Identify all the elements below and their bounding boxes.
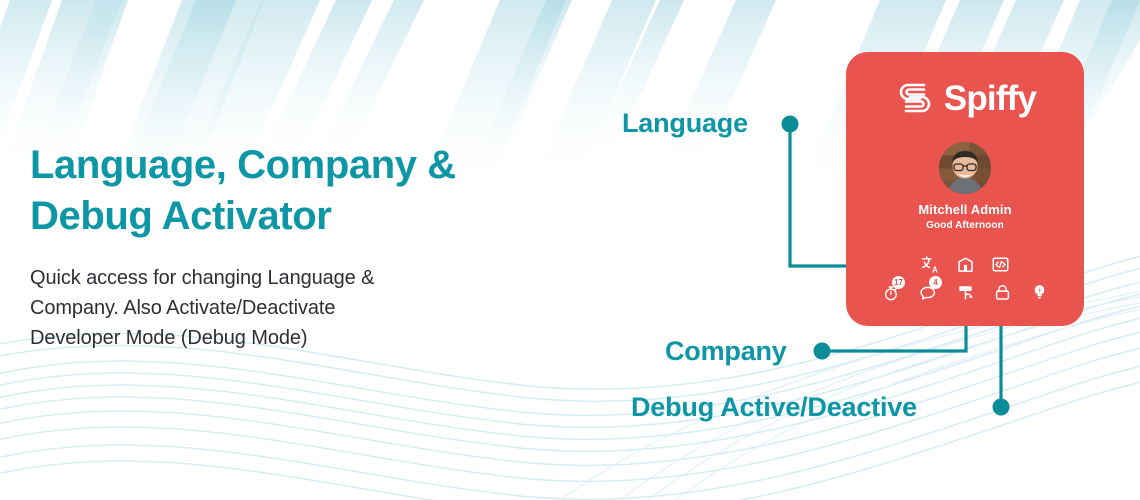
tips-bulb-icon[interactable] [1029,282,1049,302]
messages-icon[interactable]: 4 [918,282,938,302]
company-building-icon[interactable] [955,254,975,274]
messages-badge: 4 [929,276,942,289]
callout-label-company: Company [665,336,787,367]
card-user-name: Mitchell Admin [846,202,1084,217]
card-greeting: Good Afternoon [846,220,1084,231]
lock-icon[interactable] [992,282,1012,302]
activity-icon[interactable] [955,282,975,302]
spiffy-user-card: Spiffy [846,52,1084,326]
connector-dot-language [782,116,799,133]
translate-icon[interactable]: A [920,254,940,274]
callout-label-language: Language [622,108,748,139]
timer-icon[interactable]: 17 [881,282,901,302]
connector-dot-debug [993,399,1010,416]
banner-canvas: Language, Company & Debug Activator Quic… [0,0,1140,500]
svg-text:A: A [932,265,938,274]
callout-label-debug: Debug Active/Deactive [631,392,917,423]
spiffy-logo: Spiffy [846,70,1084,126]
connector-dot-company [814,343,831,360]
spiffy-logo-mark [894,78,936,118]
card-primary-icon-row: A [846,254,1084,274]
card-secondary-icon-row: 17 4 [846,282,1084,302]
debug-code-icon[interactable] [990,254,1010,274]
timer-badge: 17 [892,276,905,289]
avatar [939,142,991,194]
spiffy-logo-text: Spiffy [944,81,1036,116]
